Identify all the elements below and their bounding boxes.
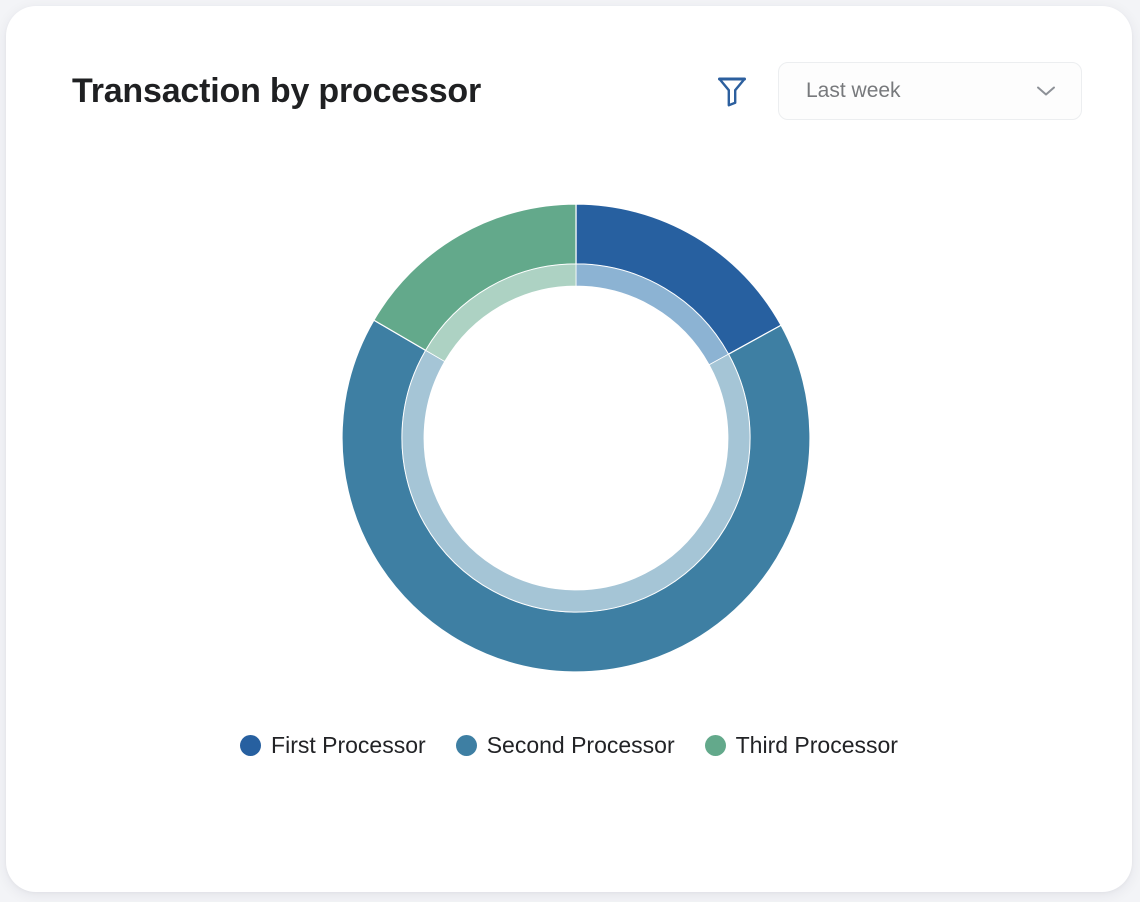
date-range-value: Last week [806, 79, 901, 103]
legend-item-label: Second Processor [487, 732, 675, 759]
page-root: Transaction by processor Last week [0, 0, 1140, 902]
legend-item-second-processor[interactable]: Second Processor [456, 732, 675, 759]
card-header: Transaction by processor Last week [72, 58, 1082, 124]
donut-chart-svg [342, 204, 810, 672]
legend-color-swatch [705, 735, 726, 756]
filter-funnel-icon[interactable] [717, 75, 747, 107]
transaction-by-processor-card: Transaction by processor Last week [6, 6, 1132, 892]
chevron-down-icon [1036, 85, 1056, 97]
donut-inner-ring [402, 264, 750, 612]
date-range-select[interactable]: Last week [778, 62, 1082, 120]
chart-area [6, 166, 1132, 716]
donut-chart[interactable] [342, 204, 810, 672]
legend-item-third-processor[interactable]: Third Processor [705, 732, 898, 759]
chart-legend: First Processor Second Processor Third P… [6, 732, 1132, 759]
legend-item-label: Third Processor [736, 732, 898, 759]
header-controls: Last week [717, 62, 1082, 120]
legend-color-swatch [240, 735, 261, 756]
legend-item-label: First Processor [271, 732, 426, 759]
page-title: Transaction by processor [72, 71, 481, 111]
legend-item-first-processor[interactable]: First Processor [240, 732, 426, 759]
legend-color-swatch [456, 735, 477, 756]
